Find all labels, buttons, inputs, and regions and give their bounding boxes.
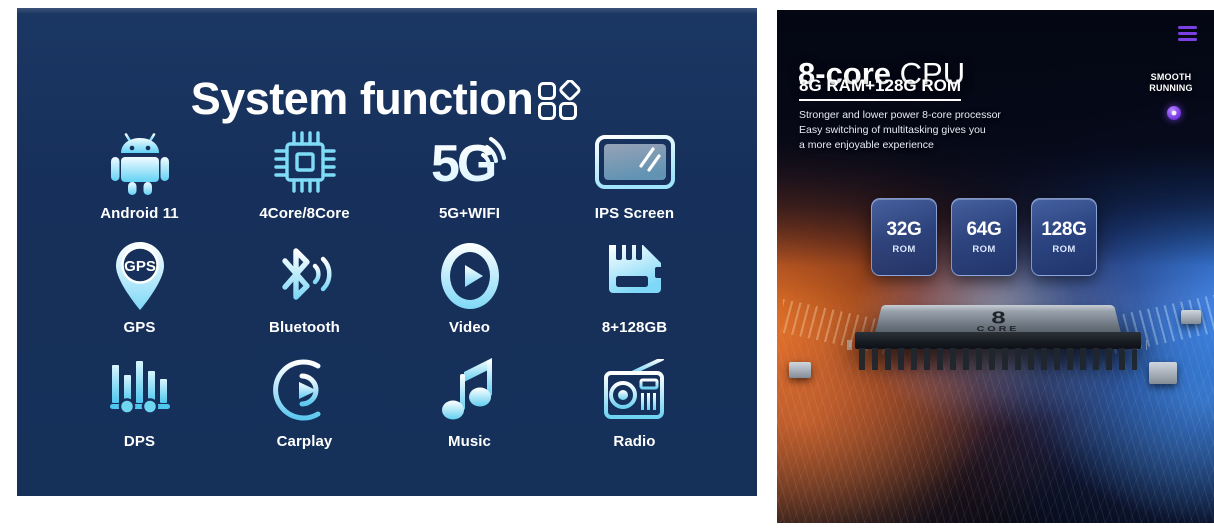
rom-card-128g[interactable]: 128G ROM: [1031, 198, 1097, 276]
cpu-chip-marking: 8 CORE: [976, 311, 1019, 334]
feature-item-5g-wifi[interactable]: 5G 5G+WIFI: [387, 126, 552, 222]
feature-item-android[interactable]: Android 11: [57, 126, 222, 222]
carplay-icon: [273, 354, 337, 426]
rom-unit: ROM: [1052, 244, 1075, 255]
feature-item-dps[interactable]: DPS: [57, 354, 222, 450]
feature-label: Carplay: [277, 433, 333, 450]
cpu-chip-pins: [859, 348, 1137, 370]
rom-unit: ROM: [892, 244, 915, 255]
feature-grid: Android 11 4Core/8Core: [57, 126, 717, 450]
rom-capacity-row: 32G ROM 64G ROM 128G ROM: [871, 198, 1097, 276]
smooth-running-line-1: SMOOTH: [1142, 72, 1200, 83]
rom-capacity: 128G: [1041, 220, 1086, 239]
feature-label: DPS: [124, 433, 155, 450]
feature-label: Bluetooth: [269, 319, 340, 336]
gps-pin-icon: GPS: [111, 240, 169, 312]
feature-label: Android 11: [100, 205, 179, 222]
feature-label: GPS: [124, 319, 156, 336]
radio-icon: [602, 354, 668, 426]
5g-wifi-icon: 5G: [431, 126, 509, 198]
feature-item-storage[interactable]: 8+128GB: [552, 240, 717, 336]
svg-text:5G: 5G: [431, 135, 495, 193]
menu-bar: [1178, 32, 1197, 35]
svg-text:GPS: GPS: [124, 258, 156, 275]
chip-core-count: 8: [977, 311, 1019, 325]
feature-item-video[interactable]: Video: [387, 240, 552, 336]
feature-item-bluetooth[interactable]: Bluetooth: [222, 240, 387, 336]
feature-item-radio[interactable]: Radio: [552, 354, 717, 450]
android-robot-icon: [109, 126, 171, 198]
smooth-running-line-2: RUNNING: [1142, 83, 1200, 94]
feature-label: Radio: [613, 433, 655, 450]
feature-label: 5G+WIFI: [439, 205, 500, 222]
cpu-promo-panel: 8 CORE 8-core CPU 8G RAM+128G ROM Strong…: [777, 10, 1214, 523]
rom-card-64g[interactable]: 64G ROM: [951, 198, 1017, 276]
page-title: System function: [191, 76, 534, 121]
smooth-running-badge: SMOOTH RUNNING: [1142, 72, 1200, 95]
hamburger-menu-icon[interactable]: [1178, 26, 1197, 41]
ram-rom-subtitle: 8G RAM+128G ROM: [799, 76, 961, 101]
system-function-panel: System function: [17, 8, 757, 496]
ips-screen-icon: [595, 126, 675, 198]
feature-label: Video: [449, 319, 490, 336]
rom-card-32g[interactable]: 32G ROM: [871, 198, 937, 276]
speed-badge-icon: [1167, 106, 1181, 120]
smd-component-3: [1181, 310, 1201, 324]
feature-item-cpu[interactable]: 4Core/8Core: [222, 126, 387, 222]
rom-capacity: 64G: [966, 220, 1001, 239]
cpu-description-line: Easy switching of multitasking gives you: [799, 123, 1001, 138]
feature-label: IPS Screen: [595, 205, 674, 222]
feature-item-ips-screen[interactable]: IPS Screen: [552, 126, 717, 222]
cpu-chip-icon: [272, 126, 338, 198]
feature-label: 4Core/8Core: [259, 205, 349, 222]
smd-component-1: [1149, 362, 1177, 384]
cpu-description-line: Stronger and lower power 8-core processo…: [799, 108, 1001, 123]
feature-label: 8+128GB: [602, 319, 667, 336]
feature-item-carplay[interactable]: Carplay: [222, 354, 387, 450]
feature-item-gps[interactable]: GPS GPS: [57, 240, 222, 336]
cpu-chip-base: [855, 332, 1141, 349]
rom-unit: ROM: [972, 244, 995, 255]
menu-bar: [1178, 26, 1197, 29]
music-note-icon: [442, 354, 498, 426]
feature-item-music[interactable]: Music: [387, 354, 552, 450]
bluetooth-icon: [273, 240, 337, 312]
screenshot-root: System function: [0, 0, 1214, 532]
feature-label: Music: [448, 433, 491, 450]
smd-component-2: [789, 362, 811, 378]
apps-grid-icon: [537, 76, 583, 122]
menu-bar: [1178, 38, 1197, 41]
cpu-description-line: a more enjoyable experience: [799, 138, 1001, 153]
dps-equalizer-icon: [108, 354, 172, 426]
video-play-icon: [439, 240, 501, 312]
cpu-description: Stronger and lower power 8-core processo…: [799, 108, 1001, 154]
rom-capacity: 32G: [886, 220, 921, 239]
sd-card-icon: [605, 240, 665, 312]
